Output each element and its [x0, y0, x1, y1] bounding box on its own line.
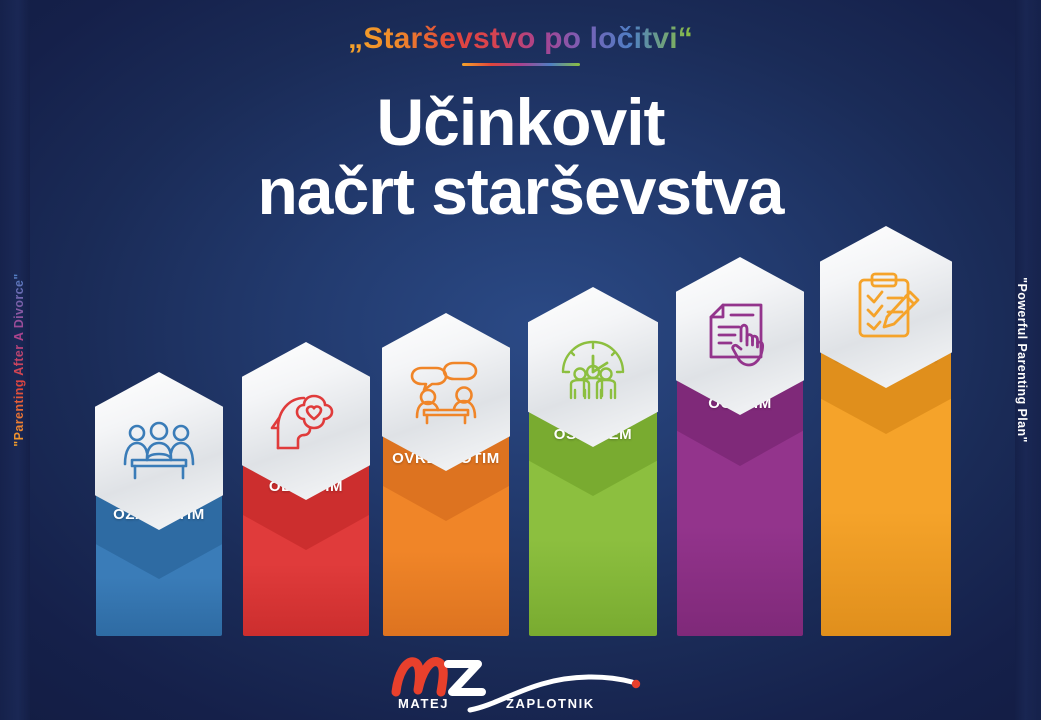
head-brain-heart-icon [270, 388, 342, 454]
step-column-4[interactable]: OSNUJEM [529, 370, 657, 636]
clock-with-people-icon [555, 332, 631, 402]
logo-last-name: ZAPLOTNIK [506, 696, 595, 711]
step-column-6[interactable]: OBVLADUJEM [821, 308, 951, 636]
step-column-3[interactable]: OVREDNOTIM [383, 396, 509, 636]
three-people-at-table-icon [121, 420, 197, 482]
brand-logo: MATEJ ZAPLOTNIK [386, 648, 656, 714]
logo-first-name: MATEJ [398, 696, 449, 711]
document-hand-pointer-icon [705, 301, 775, 371]
clipboard-checklist-pencil-icon [850, 270, 922, 344]
two-people-talking-icon [408, 359, 484, 425]
step-column-2[interactable]: OBČUTIM [243, 425, 369, 636]
steps-bar-chart: OZAVESTIM OBČUTIM OVREDNOTIM [0, 0, 1041, 720]
step-column-1[interactable]: OZAVESTIM [96, 455, 222, 636]
step-column-5[interactable]: OCENIM [677, 340, 803, 636]
